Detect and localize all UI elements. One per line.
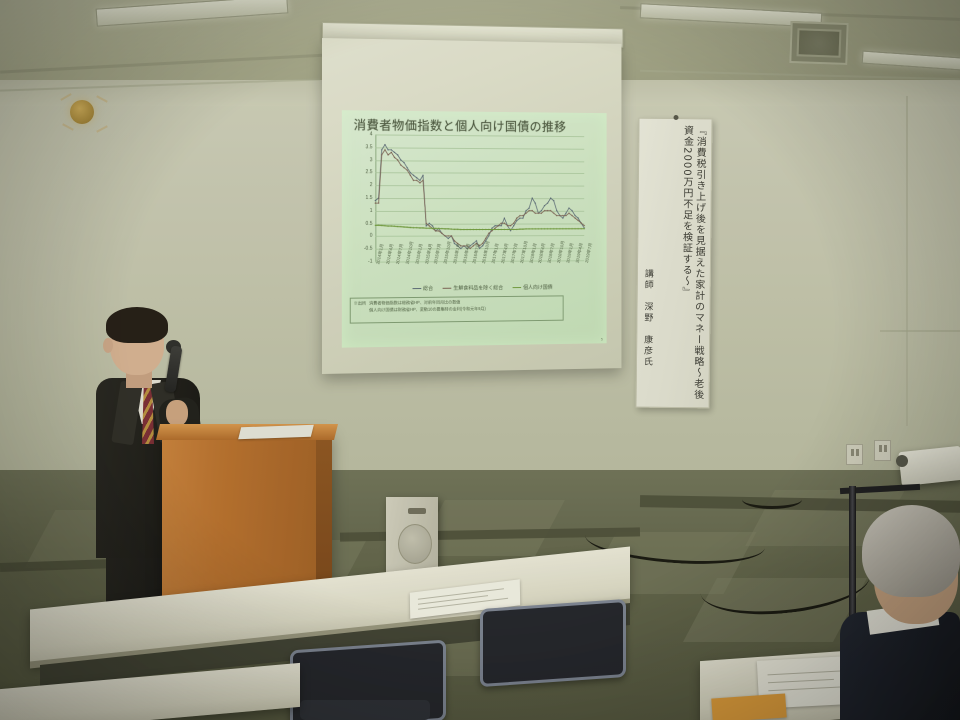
chart-data-point (410, 175, 411, 176)
chart-data-point (538, 213, 539, 214)
chart-legend: 総合生鮮食料品を除く総合個人向け国債 (381, 284, 582, 293)
chart-data-point (419, 227, 420, 228)
chart-data-point (410, 172, 411, 173)
chart-data-point (513, 225, 514, 226)
chart-data-point (562, 215, 563, 216)
chart-data-point (498, 229, 499, 230)
chart-series-総合 (375, 145, 584, 249)
chart-y-tick-label: 2.5 (366, 170, 373, 176)
chart-data-point (451, 235, 452, 236)
chart-legend-item: 総合 (412, 285, 433, 292)
chart-data-point (391, 225, 392, 226)
legend-label: 個人向け国債 (523, 284, 552, 291)
chart-data-point (519, 228, 520, 229)
chart-data-point (391, 149, 392, 150)
chart-data-point (429, 228, 430, 229)
chart-data-point (381, 154, 382, 155)
chart-data-point (454, 229, 455, 230)
chart-data-point (381, 149, 382, 150)
legend-swatch (412, 288, 421, 290)
chart-data-point (544, 228, 545, 229)
chart-data-point (473, 243, 474, 244)
chart-data-point (513, 222, 514, 223)
legend-label: 生鮮食料品を除く総合 (453, 284, 503, 291)
chart-data-point (525, 210, 526, 211)
chart-data-point (406, 226, 407, 227)
chart-data-point (550, 210, 551, 211)
chart-data-point (384, 144, 385, 145)
chart-data-point (397, 154, 398, 155)
chart-data-point (544, 205, 545, 206)
chart-data-point (378, 225, 379, 226)
chart-data-point (504, 229, 505, 230)
chart-data-point (375, 225, 376, 226)
chart-y-tick-label: 1 (370, 208, 373, 214)
chart-y-tick-label: -1 (368, 259, 372, 265)
chart-data-point (397, 159, 398, 160)
chart-data-point (522, 228, 523, 229)
chart-data-point (559, 228, 560, 229)
chart-data-point (501, 225, 502, 226)
chart-data-point (565, 215, 566, 216)
chart-y-tick-label: 0.5 (366, 221, 373, 227)
chart-data-point (562, 217, 563, 218)
chart-data-point (491, 228, 492, 229)
chart-data-point (501, 229, 502, 230)
chart-data-point (476, 229, 477, 230)
chart-data-point (426, 225, 427, 226)
chart-data-point (426, 228, 427, 229)
chart-series-生鮮食料品を除く総合 (375, 150, 584, 249)
chart-data-point (577, 217, 578, 218)
chart-data-point (435, 228, 436, 229)
chart-data-point (463, 229, 464, 230)
chart-data-point (485, 238, 486, 239)
chart-data-point (553, 200, 554, 201)
chart-data-point (525, 213, 526, 214)
projector-lens-icon (896, 455, 908, 467)
chart-data-point (387, 225, 388, 226)
chart-y-tick-label: 3.5 (366, 144, 373, 150)
chart-data-point (580, 228, 581, 229)
chart-data-point (375, 202, 376, 203)
chair-seat (300, 700, 430, 720)
chart-data-point (553, 228, 554, 229)
projected-slide: 消費者物価指数と個人向け国債の推移 43.532.521.510.50-0.5-… (342, 110, 607, 347)
chart-data-point (553, 212, 554, 213)
wall-outlet[interactable] (874, 440, 891, 461)
chart-data-point (544, 210, 545, 211)
chart-data-point (413, 175, 414, 176)
chart-data-point (584, 225, 585, 226)
chart-y-tick-label: 4 (370, 131, 373, 137)
chart-data-point (394, 226, 395, 227)
chart-data-point (547, 228, 548, 229)
chart-data-point (432, 228, 433, 229)
chart-data-point (454, 243, 455, 244)
chart-data-point (419, 180, 420, 181)
legend-label: 総合 (423, 285, 433, 292)
chart-data-point (556, 210, 557, 211)
chart-data-point (413, 180, 414, 181)
chart-data-point (448, 235, 449, 236)
chart-data-point (378, 202, 379, 203)
chart-data-point (494, 225, 495, 226)
presenter-ear (103, 338, 113, 353)
source-line-2: 個人向け国債は財務省HP、変動10の募集時の金利(令和元年9月) (369, 306, 486, 314)
legend-swatch (513, 287, 522, 289)
wall-clock-icon (70, 100, 94, 124)
chart-data-point (394, 152, 395, 153)
chart-data-point (504, 218, 505, 219)
chart-data-point (494, 229, 495, 230)
banner-title-line: 『消費税引き上げ後を見据えた家計のマネー戦略 (692, 125, 706, 367)
chart-data-point (457, 229, 458, 230)
chart-x-tick-label: 2019年7月 (584, 242, 594, 263)
floor-cable (742, 490, 802, 509)
chart-data-point (406, 167, 407, 168)
chart-data-point (488, 233, 489, 234)
chart-data-point (416, 227, 417, 228)
chart-data-point (469, 229, 470, 230)
wall-outlet[interactable] (846, 444, 863, 465)
chart-data-point (394, 157, 395, 158)
chart-plot-area: 43.532.521.510.50-0.5-1 2014年1月2014年4月20… (375, 134, 584, 261)
pa-speaker-handle (408, 508, 426, 514)
chart-data-point (419, 182, 420, 183)
chart-data-point (528, 228, 529, 229)
presenter-hair (106, 307, 168, 343)
slide-source-note: ※出所 消費者物価指数は総務省HP、対前年同月比の数値 個人向け国債は財務省HP… (350, 295, 564, 323)
chart-data-point (488, 235, 489, 236)
chart-data-point (406, 169, 407, 170)
chart-data-point (381, 225, 382, 226)
chart-data-point (429, 223, 430, 224)
chart-data-point (384, 149, 385, 150)
chart-data-point (550, 198, 551, 199)
chart-data-point (568, 212, 569, 213)
chart-data-point (400, 164, 401, 165)
chart-data-point (510, 229, 511, 230)
chart-data-point (525, 228, 526, 229)
chart-data-point (522, 215, 523, 216)
chart-data-point (559, 215, 560, 216)
event-banner: 『消費税引き上げ後を見据えた家計のマネー戦略～老後資金2000万円不足を検証する… (635, 118, 712, 409)
chart-data-point (400, 159, 401, 160)
chart-data-point (473, 229, 474, 230)
chair (480, 599, 626, 687)
chart-data-point (422, 227, 423, 228)
chart-data-point (460, 229, 461, 230)
chart-data-point (510, 225, 511, 226)
chart-data-point (577, 220, 578, 221)
chart-data-point (491, 230, 492, 231)
chart-data-point (432, 225, 433, 226)
chart-data-point (571, 228, 572, 229)
chart-data-point (448, 228, 449, 229)
chart-data-point (550, 228, 551, 229)
chart-data-point (448, 238, 449, 239)
banner-speaker-label: 講師 深野 康彦氏 (641, 269, 655, 368)
chart-y-tick-label: 3 (370, 157, 373, 163)
chart-data-point (556, 215, 557, 216)
screen-surface: 消費者物価指数と個人向け国債の推移 43.532.521.510.50-0.5-… (322, 38, 621, 374)
chart-data-point (438, 230, 439, 231)
chart-data-point (422, 175, 423, 176)
chart-data-point (562, 228, 563, 229)
chart-data-point (482, 229, 483, 230)
chart-data-point (541, 210, 542, 211)
chart-data-point (375, 200, 376, 201)
chart-data-point (451, 228, 452, 229)
chart-data-point (482, 243, 483, 244)
chart-data-point (547, 210, 548, 211)
chart-data-point (507, 229, 508, 230)
pa-speaker-driver-icon (398, 524, 432, 564)
chart-y-tick-label: -0.5 (364, 246, 372, 252)
chart-data-point (568, 228, 569, 229)
chart-data-point (507, 225, 508, 226)
chart-data-point (528, 207, 529, 208)
chart-data-point (535, 228, 536, 229)
chart-data-point (397, 226, 398, 227)
chart-data-point (532, 197, 533, 198)
chart-data-point (482, 245, 483, 246)
chart-data-point (571, 210, 572, 211)
chart-data-point (488, 229, 489, 230)
chart-data-point (422, 180, 423, 181)
chart-data-point (413, 227, 414, 228)
chart-data-point (479, 229, 480, 230)
chart-y-tick-label: 2 (370, 182, 373, 188)
chart-data-point (541, 213, 542, 214)
presenter-hand (166, 400, 188, 426)
chart-data-point (426, 223, 427, 224)
chart-data-point (574, 217, 575, 218)
slide-page-number: 5 (601, 337, 603, 342)
chart-data-point (485, 229, 486, 230)
chart-data-point (444, 235, 445, 236)
chart-data-point (535, 213, 536, 214)
chart-data-point (504, 223, 505, 224)
source-tag: ※出所 (354, 301, 366, 321)
chart-data-point (541, 228, 542, 229)
chart-data-point (571, 215, 572, 216)
wall-seam (880, 330, 960, 332)
seminar-room-photo: 消費者物価指数と個人向け国債の推移 43.532.521.510.50-0.5-… (0, 0, 960, 720)
chart-data-point (454, 240, 455, 241)
chart-data-point (416, 177, 417, 178)
chart-data-point (513, 229, 514, 230)
chart-data-point (403, 162, 404, 163)
chart-data-point (574, 215, 575, 216)
chart-data-point (516, 229, 517, 230)
chart-data-point (491, 229, 492, 230)
chart-data-point (574, 228, 575, 229)
chart-data-point (400, 226, 401, 227)
chart-data-point (535, 202, 536, 203)
chart-y-tick-label: 0 (370, 233, 373, 239)
chart-data-point (565, 212, 566, 213)
chart-data-point (522, 217, 523, 218)
source-lines: 消費者物価指数は総務省HP、対前年同月比の数値 個人向け国債は財務省HP、変動1… (369, 299, 486, 320)
chart-data-point (403, 167, 404, 168)
chart-data-point (494, 228, 495, 229)
chart-data-point (568, 207, 569, 208)
chart-data-point (510, 230, 511, 231)
chart-data-point (387, 149, 388, 150)
chart-data-point (538, 228, 539, 229)
chart-data-point (441, 233, 442, 234)
chart-legend-item: 個人向け国債 (513, 284, 553, 291)
chart-data-point (466, 229, 467, 230)
chart-data-point (416, 180, 417, 181)
projector (898, 446, 960, 486)
chart-data-point (519, 215, 520, 216)
chart-data-point (516, 218, 517, 219)
chart-data-point (384, 225, 385, 226)
chart-data-point (532, 228, 533, 229)
banner-pin-icon (673, 115, 678, 120)
chart-data-point (565, 228, 566, 229)
chart-data-point (501, 223, 502, 224)
chart-data-point (438, 228, 439, 229)
projection-screen: 消費者物価指数と個人向け国債の推移 43.532.521.510.50-0.5-… (322, 22, 621, 388)
chart-data-point (391, 152, 392, 153)
chart-data-point (516, 220, 517, 221)
slide-title: 消費者物価指数と個人向け国債の推移 (354, 114, 599, 135)
chart-data-point (528, 210, 529, 211)
chart-data-point (429, 225, 430, 226)
chart-data-point (519, 218, 520, 219)
chart-data-point (584, 228, 585, 229)
chart-data-point (556, 228, 557, 229)
chart-data-point (476, 240, 477, 241)
chart-data-point (547, 202, 548, 203)
legend-swatch (443, 287, 452, 289)
chart-y-tick-label: 1.5 (366, 195, 373, 201)
chart-data-point (444, 228, 445, 229)
chart-data-point (403, 226, 404, 227)
chart-legend-item: 生鮮食料品を除く総合 (443, 284, 503, 291)
chart-data-point (387, 154, 388, 155)
chart-data-point (580, 222, 581, 223)
chart-data-point (498, 225, 499, 226)
ceiling-vent-icon (789, 21, 848, 65)
attendee-hair (862, 505, 960, 597)
chart-data-point (435, 230, 436, 231)
handout-orange (711, 693, 786, 720)
chart-data-point (441, 228, 442, 229)
chart-data-point (410, 227, 411, 228)
chart-data-point (577, 228, 578, 229)
chart-data-point (532, 210, 533, 211)
wall-seam (906, 96, 908, 426)
